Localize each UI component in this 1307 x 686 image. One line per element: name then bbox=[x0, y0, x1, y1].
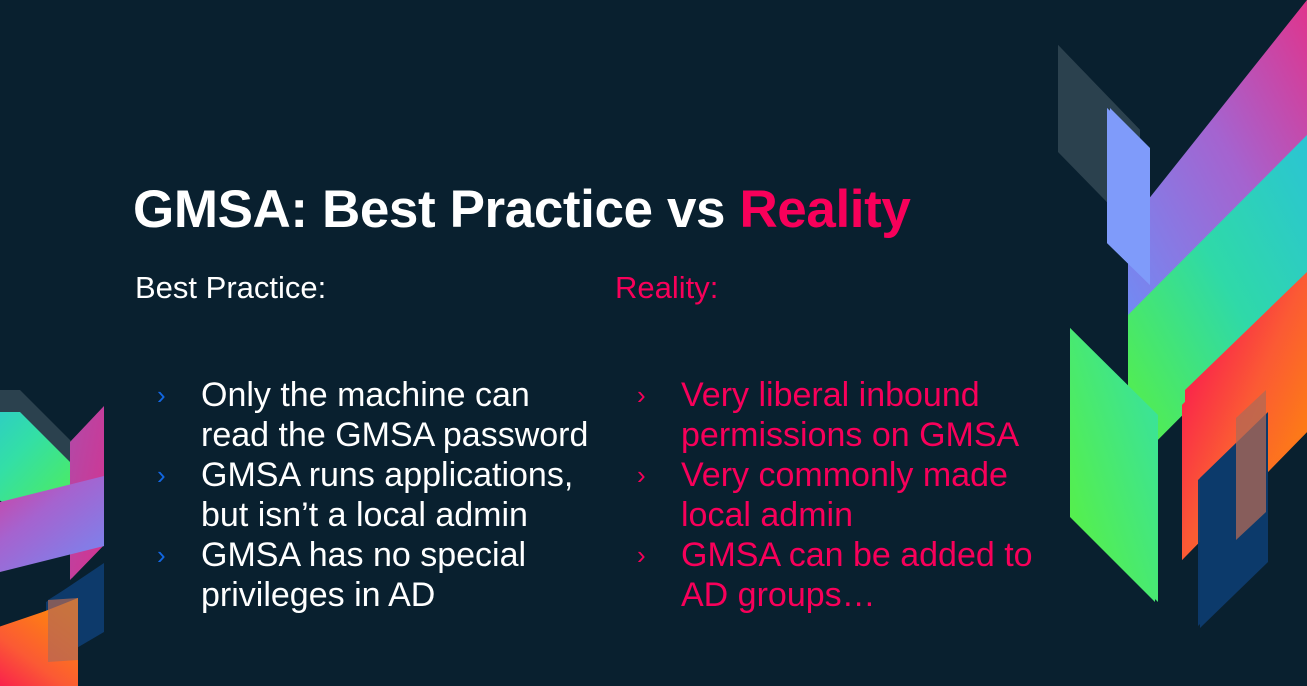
chevron-right-icon: › bbox=[157, 375, 166, 415]
title-main: GMSA: Best Practice vs bbox=[133, 180, 739, 239]
list-item: › Very liberal inbound permissions on GM… bbox=[615, 375, 1085, 455]
list-item-label: Only the machine can read the GMSA passw… bbox=[201, 376, 588, 454]
list-item-label: Very commonly made local admin bbox=[681, 456, 1008, 534]
chevron-right-icon: › bbox=[637, 375, 646, 415]
chevron-right-icon: › bbox=[157, 535, 166, 575]
title-accent: Reality bbox=[739, 180, 910, 239]
list-item-label: Very liberal inbound permissions on GMSA bbox=[681, 376, 1019, 454]
chevron-arrow-gradient-left-icon bbox=[0, 0, 130, 686]
list-item: › Very commonly made local admin bbox=[615, 455, 1085, 535]
chevron-right-icon: › bbox=[637, 535, 646, 575]
chevron-right-icon: › bbox=[157, 455, 166, 495]
bullet-list-reality: › Very liberal inbound permissions on GM… bbox=[615, 375, 1085, 615]
list-item: › GMSA can be added to AD groups… bbox=[615, 535, 1085, 615]
list-item-label: GMSA can be added to AD groups… bbox=[681, 536, 1033, 614]
list-item: › GMSA has no special privileges in AD bbox=[135, 535, 605, 615]
list-item: › Only the machine can read the GMSA pas… bbox=[135, 375, 605, 455]
column-heading-reality: Reality: bbox=[615, 268, 1085, 308]
bullet-list-best-practice: › Only the machine can read the GMSA pas… bbox=[135, 375, 605, 615]
list-item-label: GMSA runs applications, but isn’t a loca… bbox=[201, 456, 573, 534]
page-title: GMSA: Best Practice vs Reality bbox=[133, 179, 910, 240]
column-reality: Reality: › Very liberal inbound permissi… bbox=[615, 268, 1085, 615]
slide-canvas: GMSA: Best Practice vs Reality Best Prac… bbox=[0, 0, 1307, 686]
list-item-label: GMSA has no special privileges in AD bbox=[201, 536, 526, 614]
column-heading-best-practice: Best Practice: bbox=[135, 268, 605, 308]
list-item: › GMSA runs applications, but isn’t a lo… bbox=[135, 455, 605, 535]
column-best-practice: Best Practice: › Only the machine can re… bbox=[135, 268, 605, 615]
chevron-right-icon: › bbox=[637, 455, 646, 495]
